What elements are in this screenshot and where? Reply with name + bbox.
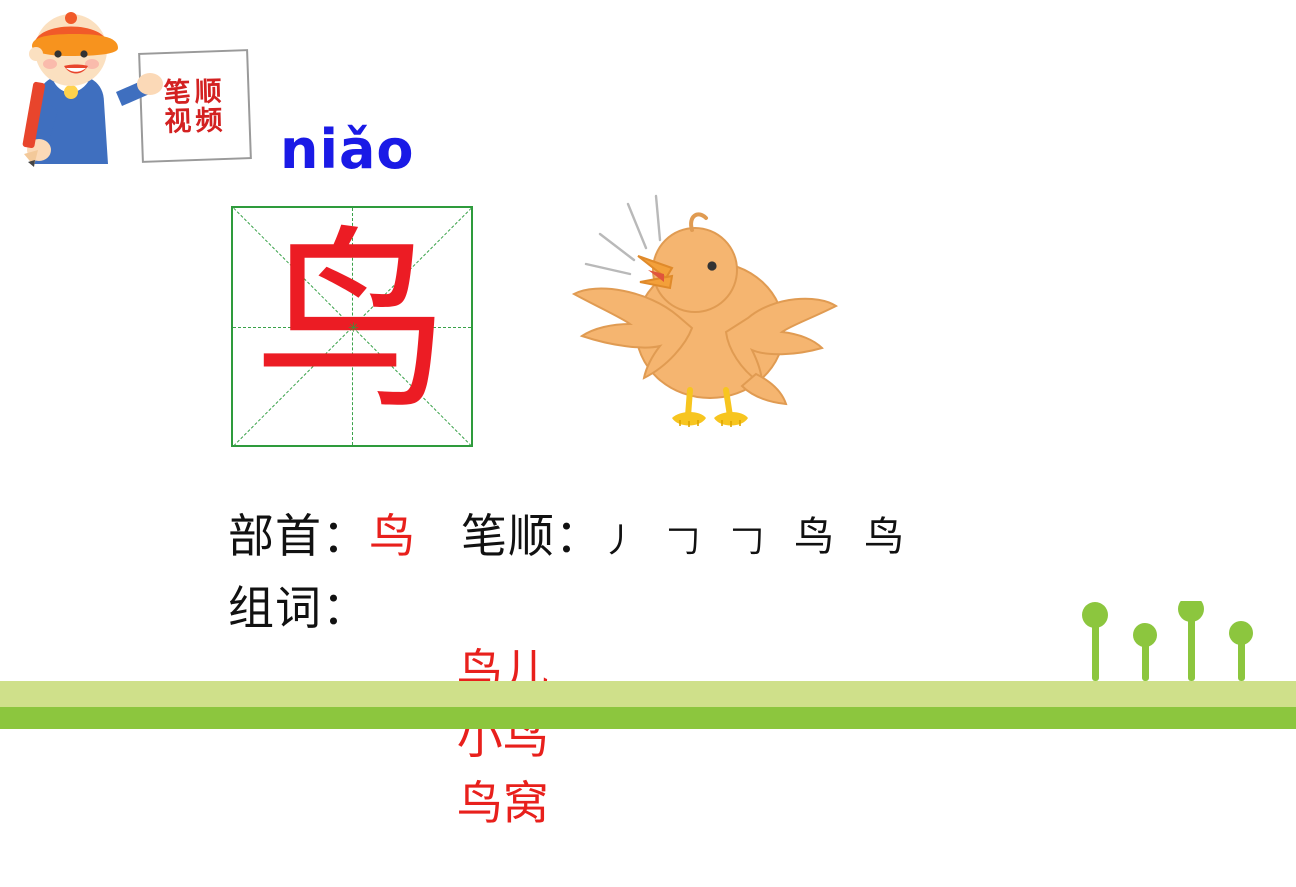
words-label: 组词： — [228, 572, 369, 638]
stroke-2: 𠃌 — [666, 513, 700, 562]
grid-center-marker: ✳ — [348, 323, 357, 332]
bottom-band-green — [0, 707, 1296, 729]
words-list: 鸟儿 小鸟 鸟窝 — [369, 581, 595, 887]
stroke-order-list: 丿 𠃌 𠃌 鸟 鸟 — [602, 504, 934, 562]
mascot-illustration[interactable]: 笔顺 视频 — [8, 4, 253, 179]
badge-line-1: 笔顺 — [163, 77, 226, 108]
badge-line-2: 视频 — [164, 106, 227, 137]
stroke-order-label: 笔顺： — [461, 500, 602, 566]
grass-decoration — [1056, 601, 1286, 681]
bird-svg — [560, 178, 850, 458]
radical-label: 部首： — [228, 500, 369, 566]
word-3: 鸟窝 — [457, 776, 549, 830]
stroke-3: 𠃌 — [730, 513, 764, 562]
stroke-4: 鸟 — [794, 504, 834, 562]
tianzige-grid: 鸟 ✳ — [231, 206, 473, 447]
bird-illustration — [560, 178, 850, 458]
stroke-5: 鸟 — [864, 504, 904, 562]
radical-value: 鸟 — [369, 500, 415, 566]
words-row: 组词： 鸟儿 小鸟 鸟窝 — [228, 572, 595, 887]
slide-canvas: 笔顺 视频 niǎo 鸟 ✳ — [0, 0, 1296, 729]
badge-text: 笔顺 视频 — [150, 61, 240, 153]
grass-svg — [1056, 601, 1286, 681]
stroke-1: 丿 — [602, 513, 636, 562]
radical-stroke-row: 部首： 鸟 笔顺： 丿 𠃌 𠃌 鸟 鸟 — [228, 500, 934, 566]
pinyin-label: niǎo — [280, 118, 415, 181]
